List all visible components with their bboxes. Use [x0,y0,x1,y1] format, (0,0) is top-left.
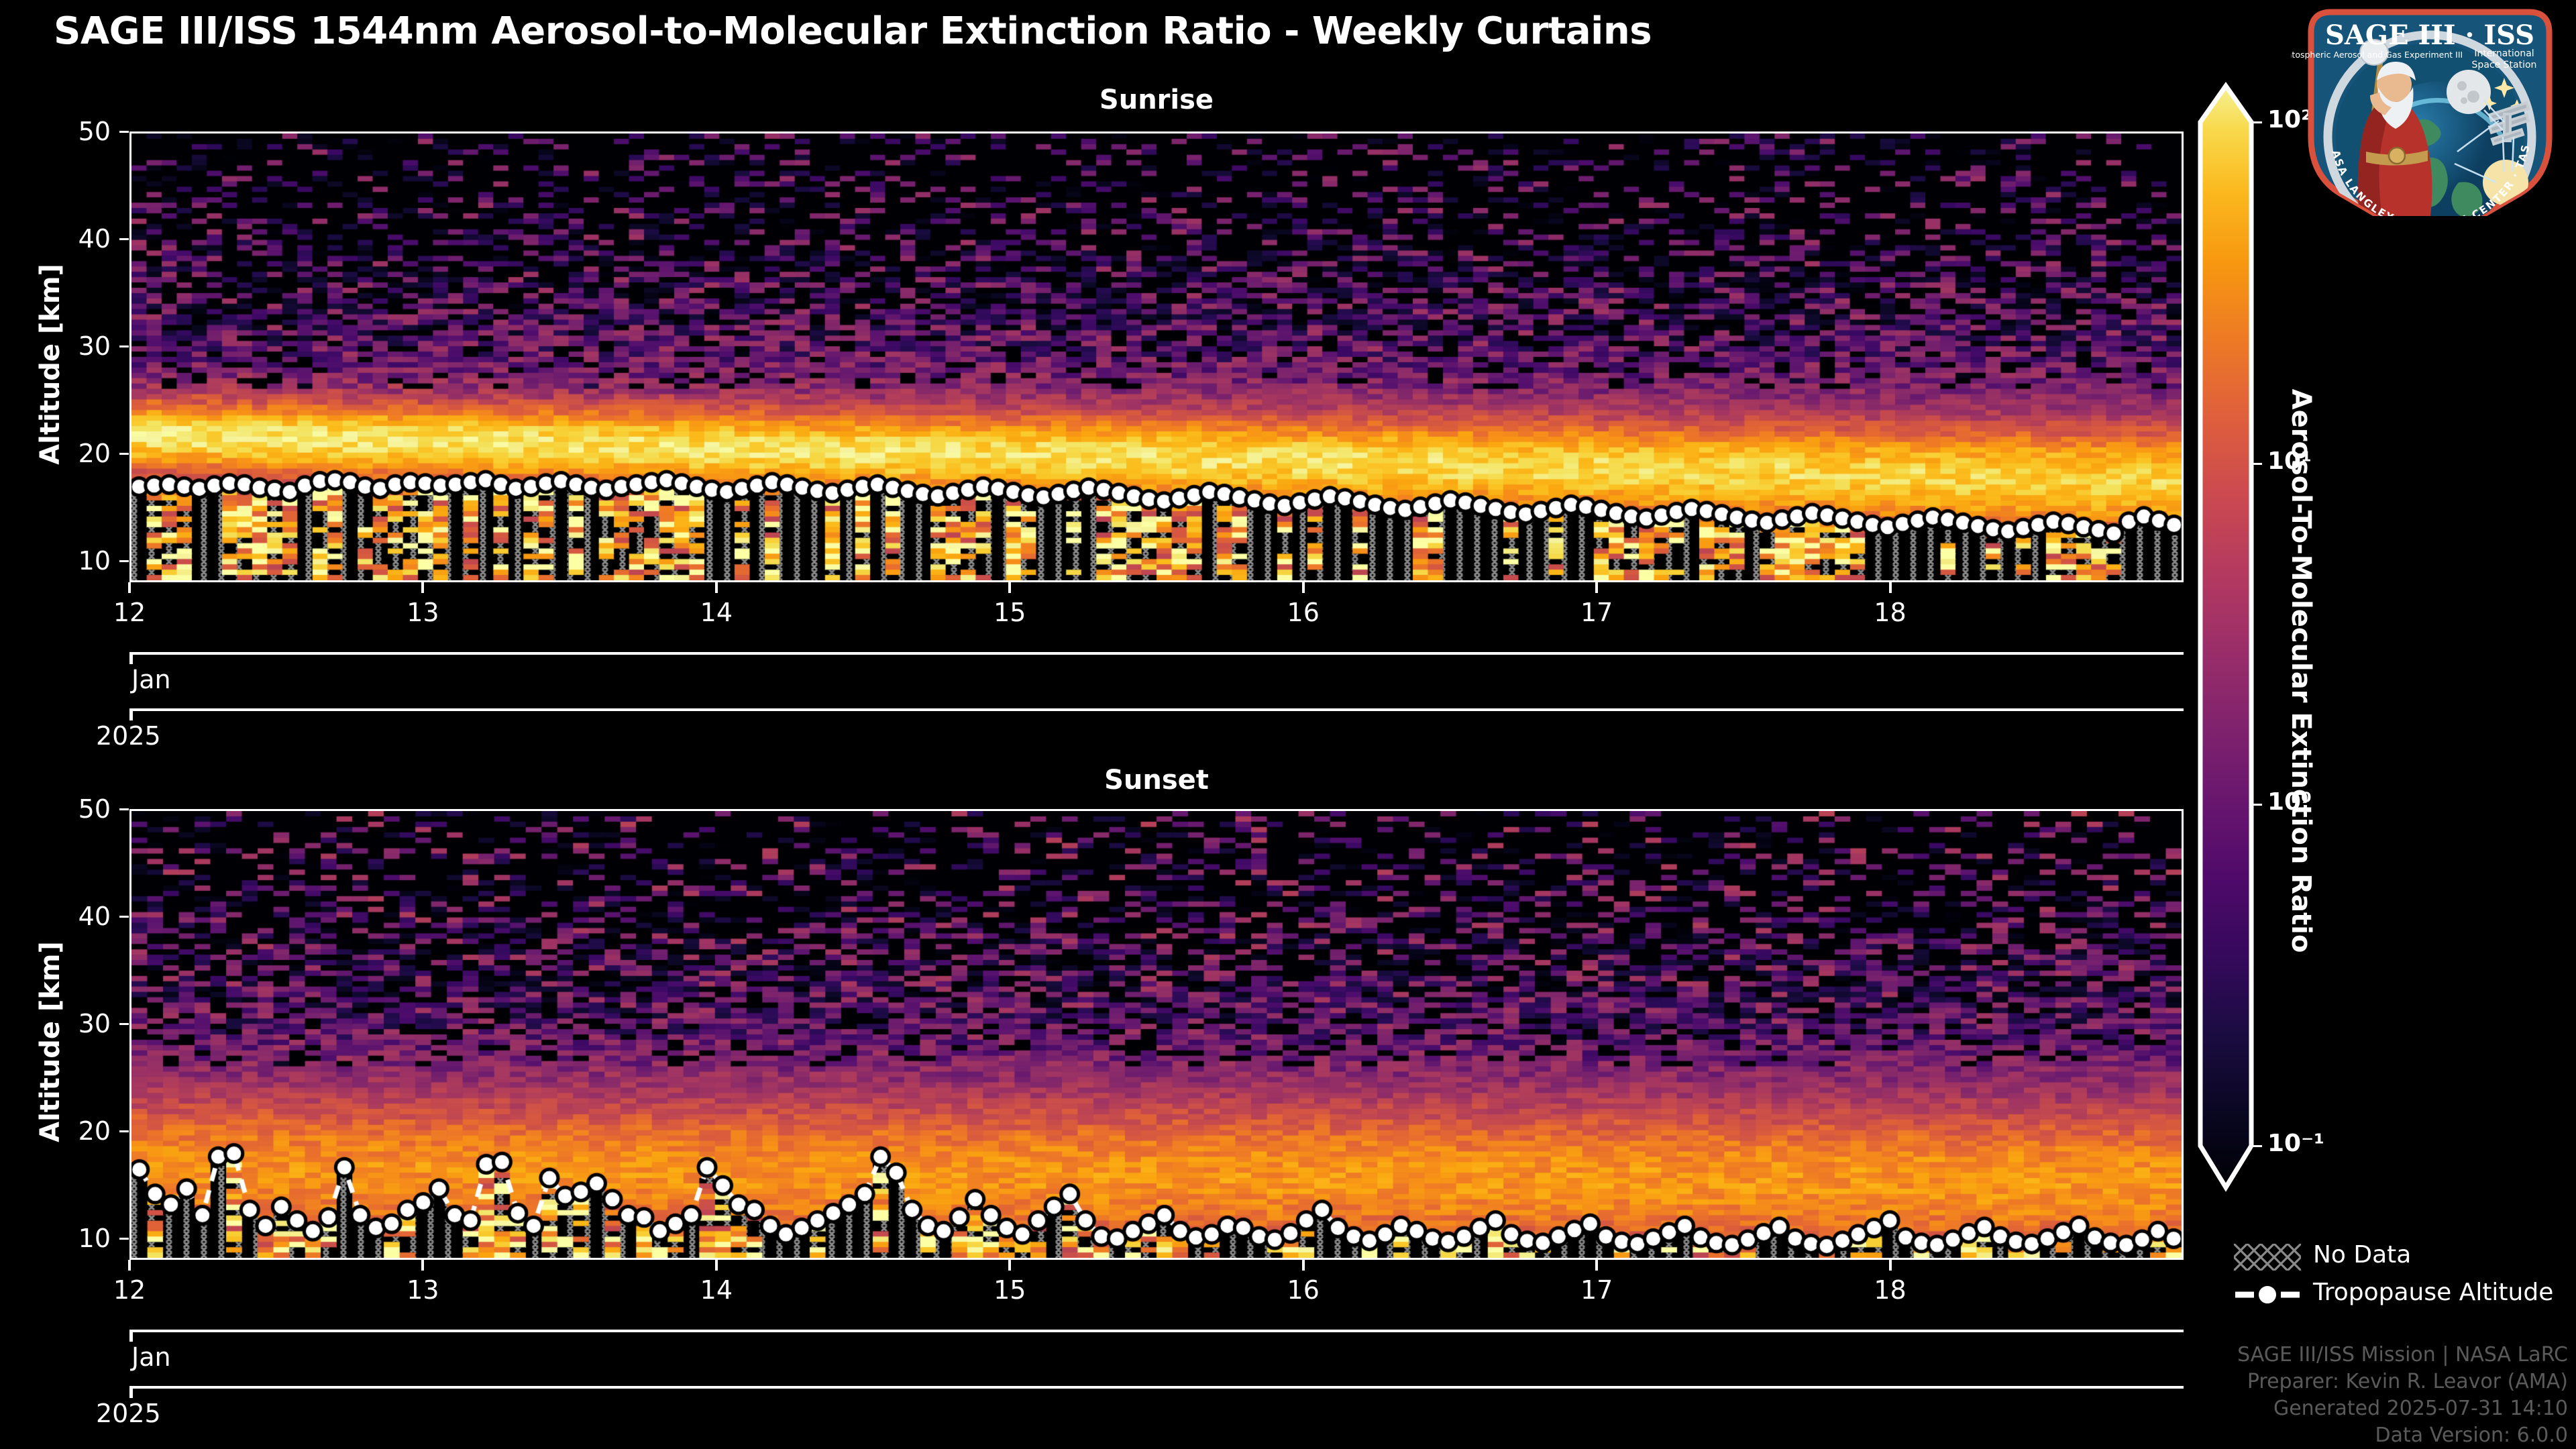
year-tick-sunrise [129,708,133,720]
x-tick-mark [421,582,424,593]
footer-line-mission: SAGE III/ISS Mission | NASA LaRC [2237,1342,2568,1368]
x-tick-mark [1008,1260,1011,1271]
heatmap-panel-sunrise[interactable] [129,131,2184,582]
x-tick-label: 17 [1560,600,1633,625]
y-tick-mark [119,453,129,455]
year-separator-line-sunrise [129,708,2184,711]
x-tick-mark [128,582,131,593]
colorbar-tick-mark [2251,1145,2262,1147]
x-tick-mark [715,582,718,593]
y-tick-mark [119,345,129,347]
tropopause-marker-icon [2234,1281,2301,1308]
y-tick-mark [119,1023,129,1025]
page-title: SAGE III/ISS 1544nm Aerosol-to-Molecular… [54,9,1865,54]
sage-iii-iss-mission-patch-logo: BALL · NASA LANGLEY RESEARCH CENTER · TA… [2291,3,2569,216]
x-tick-label: 17 [1560,1277,1633,1303]
x-tick-mark [1595,582,1598,593]
y-tick-label: 20 [50,441,111,466]
x-tick-label: 18 [1854,600,1927,625]
colorbar-svg [2190,80,2270,1207]
x-tick-label: 12 [93,1277,166,1303]
y-tick-label: 40 [50,904,111,929]
footer-line-preparer: Preparer: Kevin R. Leavor (AMA) [2237,1368,2568,1395]
footer-metadata: SAGE III/ISS Mission | NASA LaRC Prepare… [2237,1342,2568,1449]
heatmap-canvas-sunset [131,811,2182,1258]
month-separator-line-sunset [129,1330,2184,1332]
y-tick-label: 10 [50,1226,111,1251]
month-tick-sunrise [129,652,133,664]
x-tick-mark [1889,582,1892,593]
year-separator-line-sunset [129,1386,2184,1389]
colorbar-label: Aerosol-To-Molecular Extinction Ratio [2286,389,2316,953]
figure-root: SAGE III/ISS 1544nm Aerosol-to-Molecular… [0,0,2576,1449]
legend-label-tropopause: Tropopause Altitude [2313,1277,2553,1308]
x-tick-label: 16 [1267,1277,1340,1303]
year-label-sunset: 2025 [96,1401,161,1426]
y-tick-mark [119,1130,129,1132]
y-tick-mark [119,1238,129,1240]
logo-subtitle-right-2: Space Station [2472,60,2537,70]
x-tick-mark [1008,582,1011,593]
month-label-sunrise: Jan [131,667,171,692]
y-tick-label: 50 [50,119,111,144]
colorbar-tick-mark [2251,121,2262,123]
legend-item-no-data[interactable]: No Data [2234,1238,2569,1276]
colorbar[interactable]: 10²10¹10⁰10⁻¹ [2190,80,2270,1207]
x-tick-label: 14 [680,600,753,625]
heatmap-canvas-sunrise [131,133,2182,580]
y-tick-label: 50 [50,796,111,822]
x-tick-label: 15 [973,600,1046,625]
x-tick-mark [1302,582,1305,593]
month-tick-sunset [129,1330,133,1342]
logo-title: SAGE III · ISS [2325,19,2534,51]
y-tick-label: 30 [50,1011,111,1036]
y-tick-label: 20 [50,1118,111,1144]
x-tick-label: 13 [386,1277,460,1303]
x-tick-mark [1889,1260,1892,1271]
x-tick-label: 16 [1267,600,1340,625]
x-tick-label: 15 [973,1277,1046,1303]
y-tick-mark [119,131,129,133]
panel-title-sunset: Sunset [129,765,2184,796]
hatch-swatch-icon [2234,1244,2301,1271]
y-tick-mark [119,916,129,918]
heatmap-panel-sunset[interactable] [129,809,2184,1260]
colorbar-tick-label: 10⁻¹ [2267,1130,2324,1157]
footer-line-version: Data Version: 6.0.0 [2237,1422,2568,1449]
colorbar-tick-mark [2251,804,2262,806]
x-tick-label: 13 [386,600,460,625]
logo-subtitle-left: Stratospheric Aerosol and Gas Experiment… [2291,50,2463,60]
x-tick-mark [1302,1260,1305,1271]
x-tick-label: 18 [1854,1277,1927,1303]
month-label-sunset: Jan [131,1344,171,1370]
y-tick-mark [119,808,129,810]
x-tick-label: 12 [93,600,166,625]
y-tick-label: 40 [50,226,111,252]
year-label-sunrise: 2025 [96,723,161,749]
legend: No Data Tropopause Altitude [2234,1238,2569,1313]
year-tick-sunset [129,1386,133,1398]
x-tick-label: 14 [680,1277,753,1303]
footer-line-generated: Generated 2025-07-31 14:10 [2237,1395,2568,1422]
colorbar-tick-mark [2251,463,2262,465]
y-tick-mark [119,560,129,562]
logo-subtitle-right-1: International [2474,48,2534,59]
panel-title-sunrise: Sunrise [129,85,2184,115]
y-tick-label: 10 [50,548,111,574]
y-tick-mark [119,238,129,240]
legend-item-tropopause[interactable]: Tropopause Altitude [2234,1276,2569,1313]
x-tick-mark [421,1260,424,1271]
x-tick-mark [128,1260,131,1271]
legend-label-no-data: No Data [2313,1240,2411,1271]
month-separator-line-sunrise [129,652,2184,655]
x-tick-mark [715,1260,718,1271]
y-tick-label: 30 [50,333,111,359]
x-tick-mark [1595,1260,1598,1271]
